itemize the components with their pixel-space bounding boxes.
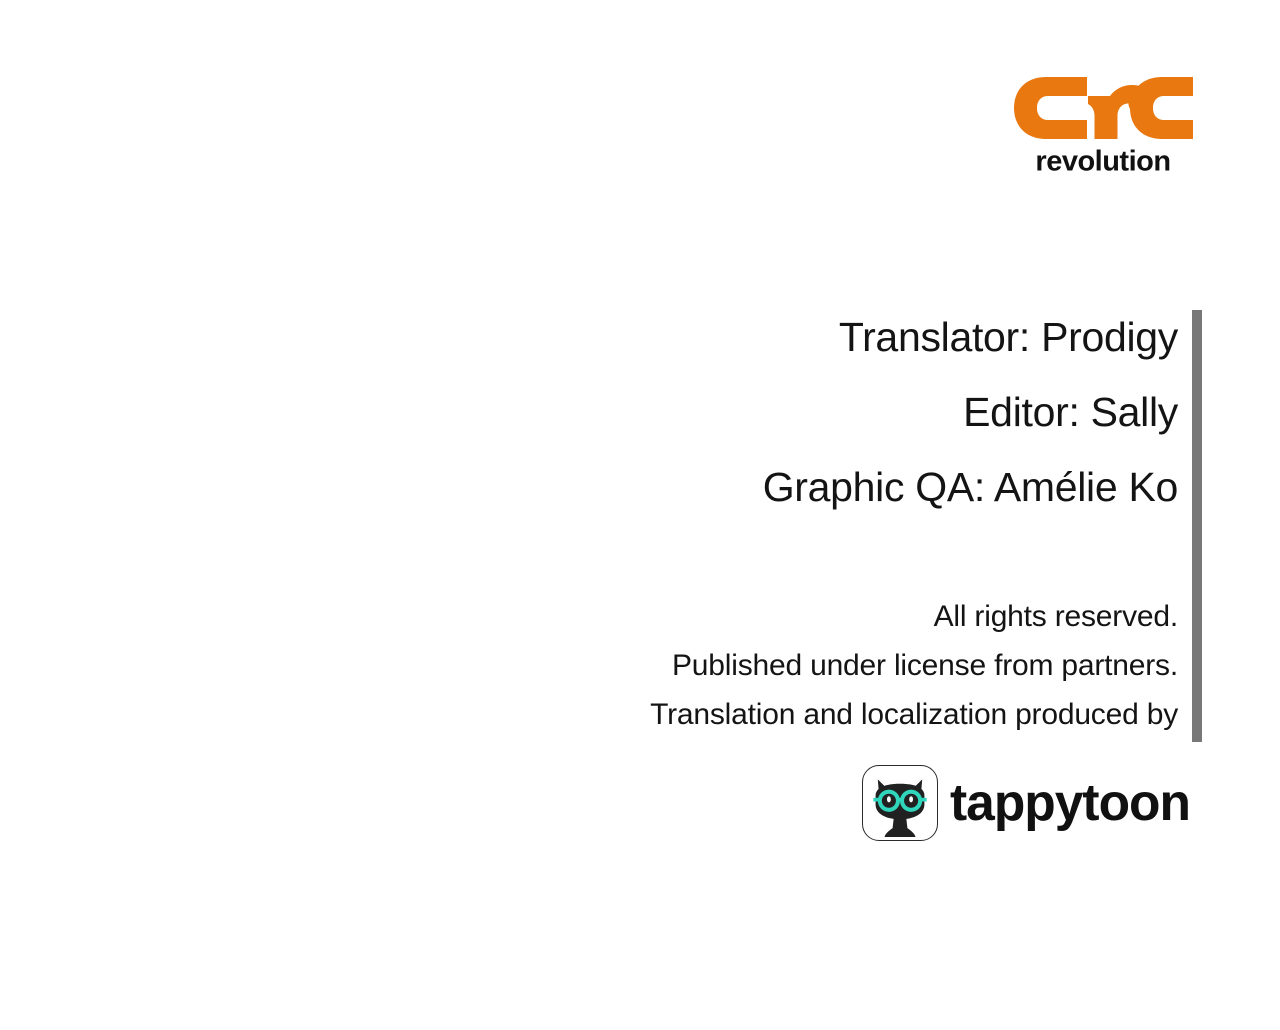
legal-line-rights: All rights reserved.	[420, 592, 1178, 641]
legal-line-produced-by: Translation and localization produced by	[420, 690, 1178, 739]
cat-with-glasses-icon	[863, 766, 937, 840]
svg-text:revolution: revolution	[1035, 146, 1170, 178]
credit-line-editor: Editor: Sally	[420, 375, 1178, 450]
cnc-mark-icon	[1012, 74, 1194, 142]
publisher-logo: revolution	[1012, 74, 1194, 178]
svg-text:tappytoon: tappytoon	[950, 774, 1190, 832]
cnc-wordmark: revolution	[1012, 144, 1194, 178]
legal-line-license: Published under license from partners.	[420, 641, 1178, 690]
platform-logo: tappytoon	[862, 764, 1194, 842]
credits-list: Translator: Prodigy Editor: Sally Graphi…	[420, 300, 1178, 525]
credit-line-graphic-qa: Graphic QA: Amélie Ko	[420, 450, 1178, 525]
tappytoon-app-tile	[862, 765, 938, 841]
tappytoon-wordmark-svg: tappytoon	[950, 774, 1192, 832]
legal-notice: All rights reserved. Published under lic…	[420, 592, 1178, 739]
credit-line-translator: Translator: Prodigy	[420, 300, 1178, 375]
vertical-divider	[1192, 310, 1202, 742]
tappytoon-wordmark: tappytoon	[950, 774, 1192, 832]
